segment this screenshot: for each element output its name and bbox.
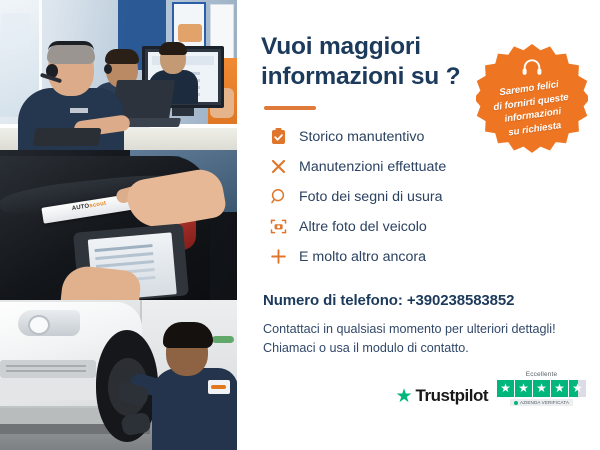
star-icon: ★: [533, 380, 550, 397]
promo-card: AUTOscout Vuoi maggiori informazioni su …: [0, 0, 600, 450]
magnifier-icon: [265, 188, 291, 205]
list-item: Manutenzioni effettuate: [265, 152, 578, 182]
list-item-label: Altre foto del veicolo: [291, 219, 427, 235]
info-panel: Vuoi maggiori informazioni su ? Storico …: [237, 0, 600, 450]
headline-line-1: Vuoi maggiori: [261, 33, 421, 60]
contact-subtext-line-2: Chiamaci o usa il modulo di contatto.: [263, 341, 469, 355]
crossed-tools-icon: [265, 158, 291, 175]
trustpilot-logo: ★ Trustpilot: [396, 386, 489, 406]
rating-caption: Eccellente: [526, 371, 558, 378]
star-rating: ★ ★ ★ ★ ★: [497, 380, 586, 397]
trustpilot-rating[interactable]: ★ Trustpilot Eccellente ★ ★ ★ ★ ★ AZIEND…: [396, 371, 587, 407]
mechanic-wheel-inspection-photo: [0, 300, 237, 450]
list-item: E molto altro ancora: [265, 242, 578, 272]
title-underline-rule: [264, 106, 316, 110]
photo-column: AUTOscout: [0, 0, 237, 450]
star-icon-half: ★: [569, 380, 586, 397]
verified-label: AZIENDA VERIFICATA: [520, 400, 569, 405]
trustpilot-wordmark: Trustpilot: [416, 386, 488, 406]
star-icon: ★: [551, 380, 568, 397]
phone-number-line[interactable]: Numero di telefono: +390238583852: [263, 292, 578, 309]
photo-frame-icon: [265, 218, 291, 235]
contact-subtext: Contattaci in qualsiasi momento per ulte…: [263, 320, 578, 358]
call-center-agents-photo: [0, 0, 237, 150]
rating-block: Eccellente ★ ★ ★ ★ ★ AZIENDA VERIFICATA: [497, 371, 586, 407]
trustpilot-star-icon: ★: [396, 387, 413, 406]
list-item-label: Manutenzioni effettuate: [291, 159, 446, 175]
headset-icon: [522, 59, 543, 81]
list-item-label: E molto altro ancora: [291, 249, 426, 265]
list-item-label: Storico manutentivo: [291, 129, 424, 145]
star-icon: ★: [497, 380, 514, 397]
plus-icon: [265, 248, 291, 265]
vehicle-bumper-inspection-photo: AUTOscout: [0, 150, 237, 300]
list-item: Foto dei segni di usura: [265, 182, 578, 212]
star-icon: ★: [515, 380, 532, 397]
list-item-label: Foto dei segni di usura: [291, 189, 443, 205]
list-item: Altre foto del veicolo: [265, 212, 578, 242]
status-badge: Saremo felici di fornirti queste informa…: [476, 44, 588, 156]
verified-check-icon: [514, 401, 518, 405]
contact-subtext-line-1: Contattaci in qualsiasi momento per ulte…: [263, 322, 556, 336]
clipboard-check-icon: [265, 128, 291, 145]
verified-company-badge: AZIENDA VERIFICATA: [510, 399, 573, 406]
